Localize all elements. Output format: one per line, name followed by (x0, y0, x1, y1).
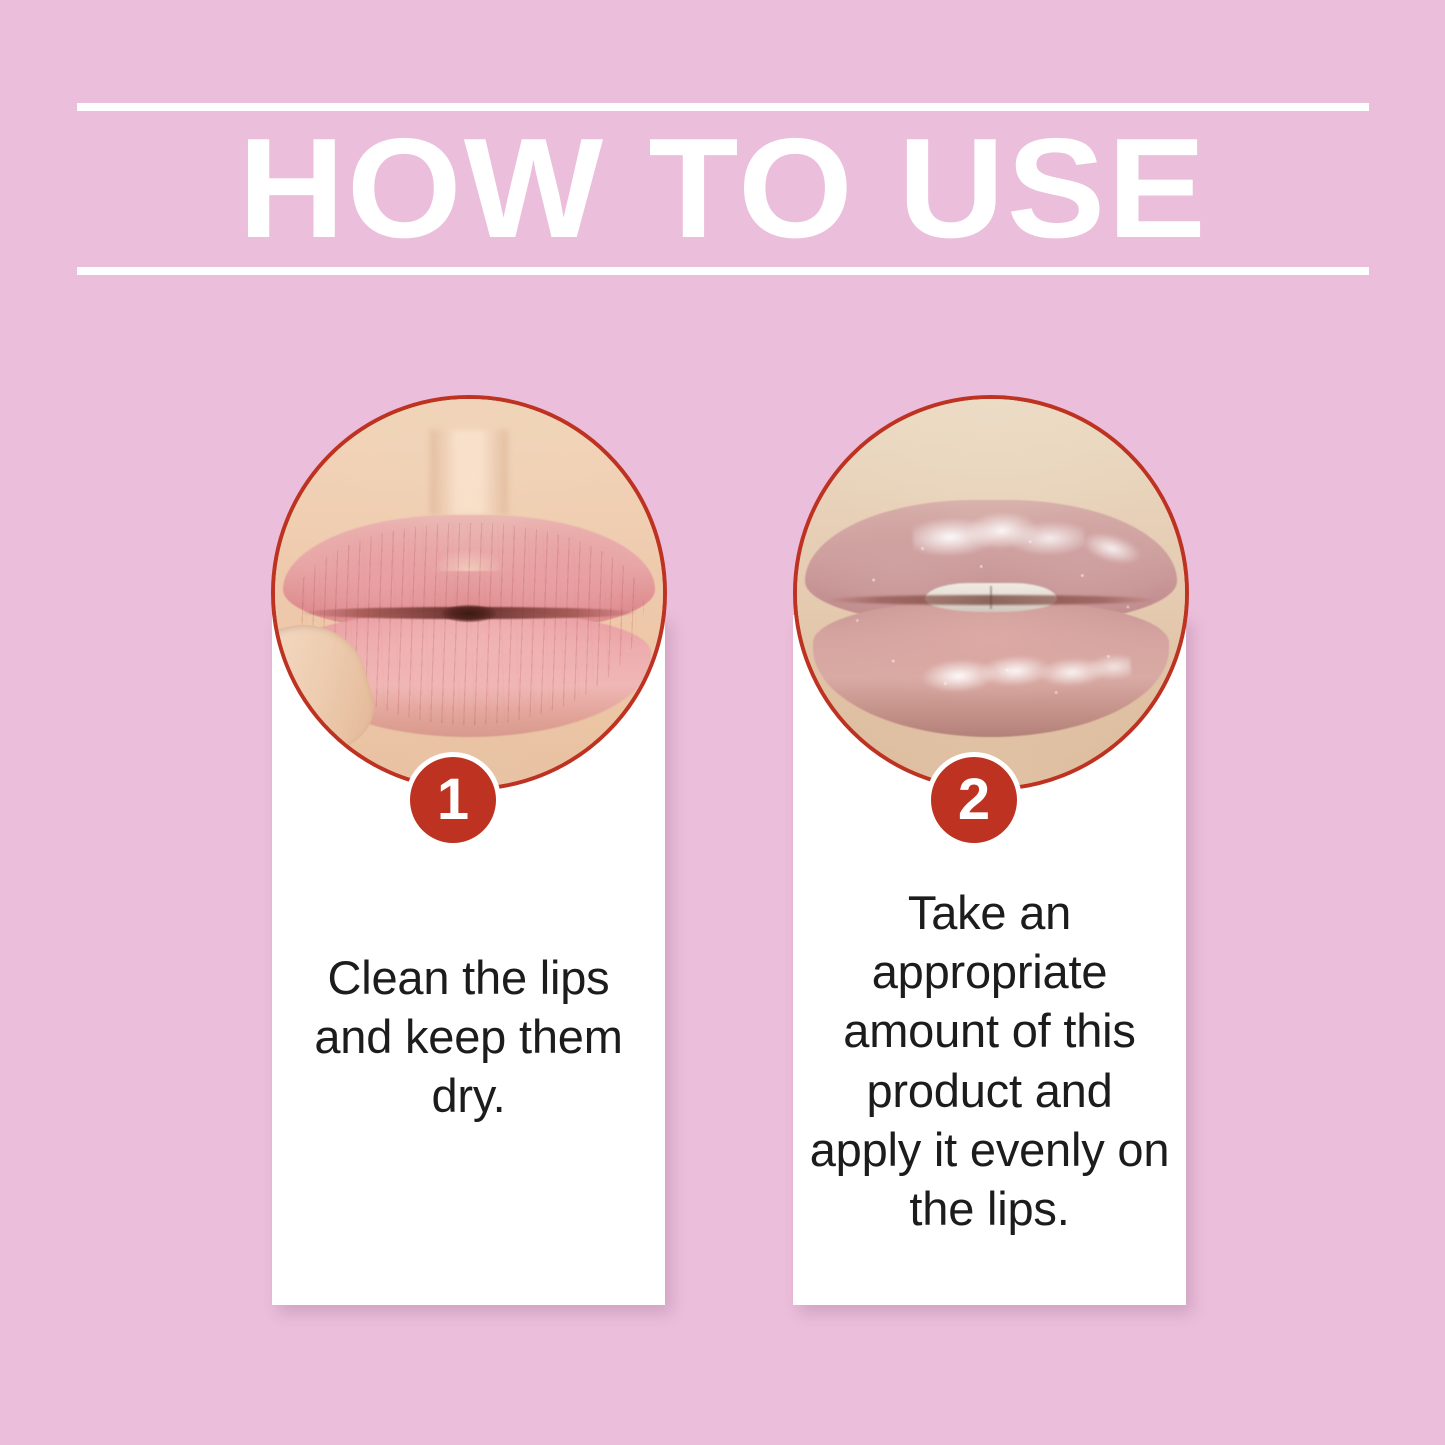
step-card-1: 1 Clean the lips and keep them dry. (272, 615, 665, 1305)
header-divider-bottom (77, 267, 1369, 275)
step-number-badge-1: 1 (405, 752, 501, 848)
step-2-description: Take an appropriate amount of this produ… (805, 883, 1174, 1238)
step-1-photo (271, 395, 667, 791)
mouth-opening (442, 605, 496, 621)
step-2-photo-inner (797, 399, 1185, 787)
page-title: HOW TO USE (51, 111, 1395, 267)
step-2-photo (793, 395, 1189, 791)
step-card-2: 2 Take an appropriate amount of this pro… (793, 615, 1186, 1305)
gloss-highlight-upper (913, 509, 1085, 561)
philtrum-shading (430, 430, 508, 515)
header: HOW TO USE (77, 103, 1369, 275)
how-to-use-infographic: HOW TO USE 1 Clean the lips and keep the… (0, 0, 1445, 1445)
step-1-description: Clean the lips and keep them dry. (284, 948, 653, 1126)
step-number-badge-2: 2 (926, 752, 1022, 848)
step-1-photo-inner (275, 399, 663, 787)
